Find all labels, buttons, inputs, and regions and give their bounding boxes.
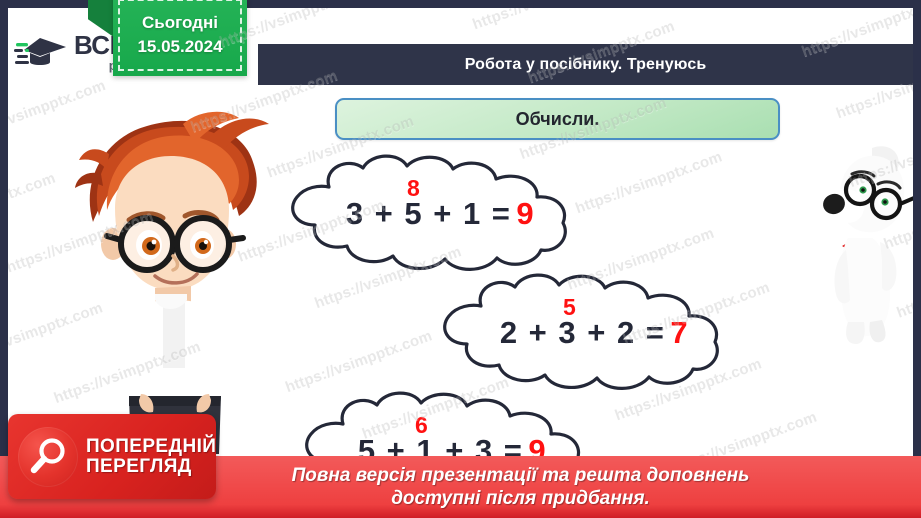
preview-badge-label: ПОПЕРЕДНІЙ ПЕРЕГЛЯД: [86, 437, 216, 476]
cloud-equation-1: 3 + 5 + 1 = 9: [283, 151, 576, 276]
boy-character: [63, 104, 278, 454]
date-badge-date: 15.05.2024: [137, 37, 222, 57]
lesson-header-title: Робота у посібнику. Тренуюсь: [465, 56, 707, 74]
watermark-text: https://vsimpptx.com: [8, 169, 58, 238]
equation-answer-1: 9: [516, 196, 535, 232]
lesson-header-bar: Робота у посібнику. Тренуюсь: [258, 44, 913, 85]
preview-badge-line1: ПОПЕРЕДНІЙ: [86, 437, 216, 456]
task-title-box: Обчисли.: [335, 98, 780, 140]
purchase-banner-line2: доступні після придбання.: [391, 487, 650, 510]
cloud-hint-1: 8: [407, 177, 420, 200]
cloud-bubble-2: 5 2 + 3 + 2 = 7: [435, 270, 728, 395]
watermark-text: https://vsimpptx.com: [470, 8, 621, 33]
watermark-text: https://vsimpptx.com: [8, 39, 10, 108]
equation-answer-2: 7: [670, 315, 689, 351]
equation-text-2: 2 + 3 + 2 =: [500, 315, 666, 351]
preview-badge: ПОПЕРЕДНІЙ ПЕРЕГЛЯД: [8, 414, 216, 499]
dog-character: [814, 142, 913, 347]
graduation-cap-icon: [14, 32, 70, 72]
purchase-banner-line1: Повна версія презентації та решта доповн…: [292, 464, 750, 487]
watermark-text: https://vsimpptx.com: [283, 327, 434, 396]
cloud-hint-3: 6: [415, 414, 428, 437]
slide: 8 3 + 5 + 1 = 9 5 2 + 3 + 2 = 7 6 5 + 1 …: [0, 0, 921, 518]
date-badge-label: Сьогодні: [142, 13, 218, 33]
cloud-bubble-1: 8 3 + 5 + 1 = 9: [283, 151, 576, 276]
cloud-hint-2: 5: [563, 296, 576, 319]
magnifier-icon: [18, 427, 78, 487]
preview-badge-line2: ПЕРЕГЛЯД: [86, 457, 216, 476]
task-title-text: Обчисли.: [516, 109, 600, 130]
cloud-equation-2: 2 + 3 + 2 = 7: [435, 270, 728, 395]
equation-text-1: 3 + 5 + 1 =: [346, 196, 512, 232]
date-badge: Сьогодні 15.05.2024: [113, 0, 247, 76]
watermark-text: https://vsimpptx.com: [573, 148, 724, 217]
